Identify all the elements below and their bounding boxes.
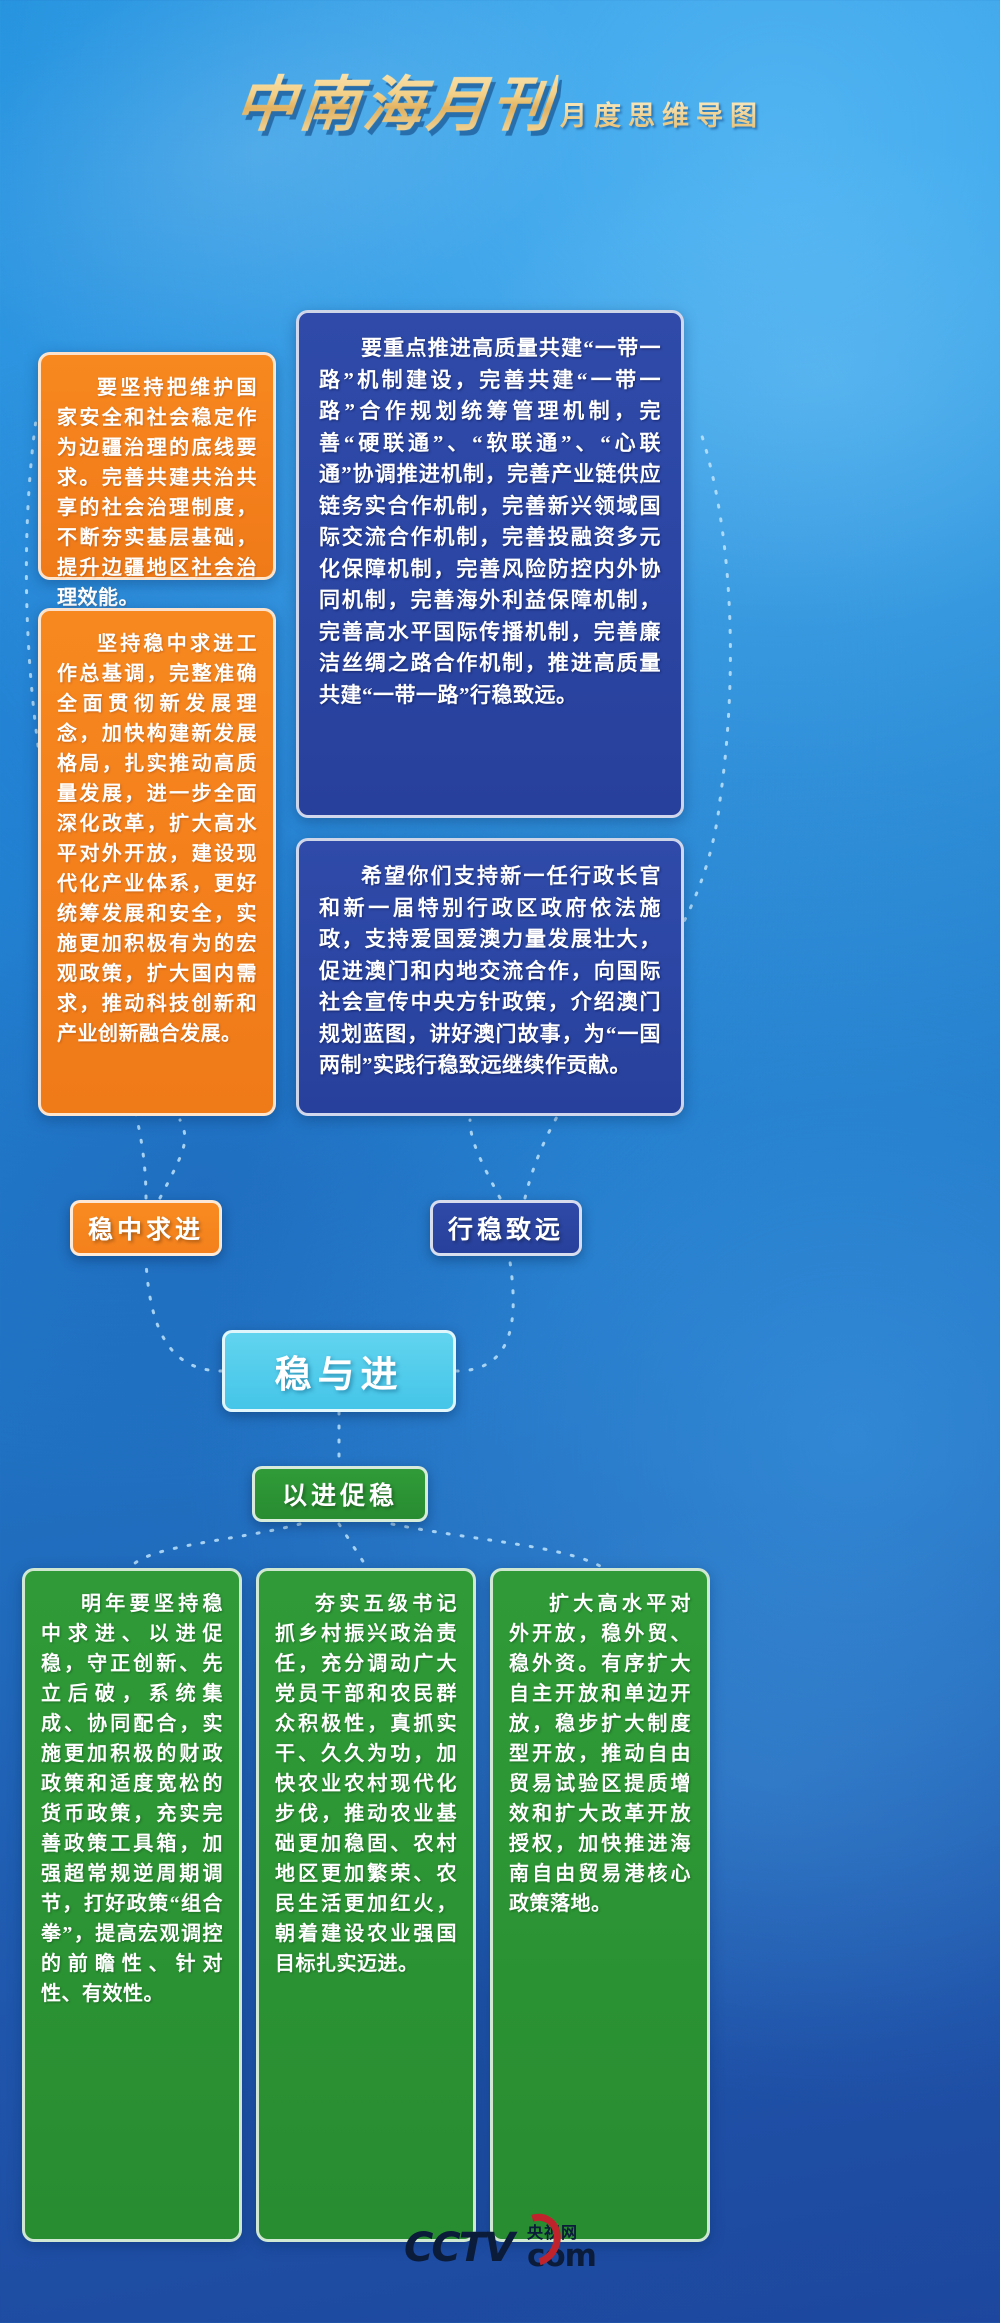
card-macao[interactable]: 希望你们支持新一任行政长官和新一届特别行政区政府依法施政，支持爱国爱澳力量发展壮… <box>296 838 684 1116</box>
cctv-logo: CCTV 央视网 com <box>404 2225 596 2271</box>
cctv-logo-text: CCTV <box>404 2225 513 2271</box>
page-header: 中南海月刊 月度思维导图 <box>0 0 1000 143</box>
card-text: 扩大高水平对外开放，稳外贸、稳外资。有序扩大自主开放和单边开放，稳步扩大制度型开… <box>509 1589 691 1919</box>
card-text: 坚持稳中求进工作总基调，完整准确全面贯彻新发展理念，加快构建新发展格局，扎实推动… <box>57 629 257 1049</box>
page-title: 中南海月刊 <box>231 56 560 143</box>
node-center-theme[interactable]: 稳与进 <box>222 1330 456 1412</box>
card-steady-progress[interactable]: 坚持稳中求进工作总基调，完整准确全面贯彻新发展理念，加快构建新发展格局，扎实推动… <box>38 608 276 1116</box>
card-text: 希望你们支持新一任行政长官和新一届特别行政区政府依法施政，支持爱国爱澳力量发展壮… <box>319 861 661 1082</box>
card-belt-and-road[interactable]: 要重点推进高质量共建“一带一路”机制建设，完善共建“一带一路”合作规划统筹管理机… <box>296 310 684 818</box>
card-rural-revitalization[interactable]: 夯实五级书记抓乡村振兴政治责任，充分调动广大党员干部和农民群众积极性，真抓实干、… <box>256 1568 476 2242</box>
node-label: 以进促稳 <box>282 1476 398 1512</box>
card-border-governance[interactable]: 要坚持把维护国家安全和社会稳定作为边疆治理的底线要求。完善共建共治共享的社会治理… <box>38 352 276 580</box>
card-opening-up[interactable]: 扩大高水平对外开放，稳外贸、稳外资。有序扩大自主开放和单边开放，稳步扩大制度型开… <box>490 1568 710 2242</box>
node-steady-far[interactable]: 行稳致远 <box>430 1200 582 1256</box>
card-text: 要重点推进高质量共建“一带一路”机制建设，完善共建“一带一路”合作规划统筹管理机… <box>319 333 661 711</box>
card-text: 要坚持把维护国家安全和社会稳定作为边疆治理的底线要求。完善共建共治共享的社会治理… <box>57 373 257 613</box>
card-text: 明年要坚持稳中求进、以进促稳，守正创新、先立后破，系统集成、协同配合，实施更加积… <box>41 1589 223 2009</box>
page-footer: CCTV 央视网 com <box>0 2225 1000 2271</box>
node-progress-promotes-stability[interactable]: 以进促稳 <box>252 1466 428 1522</box>
node-steady-in-progress[interactable]: 稳中求进 <box>70 1200 222 1256</box>
node-label: 行稳致远 <box>448 1210 564 1246</box>
card-next-year-policy[interactable]: 明年要坚持稳中求进、以进促稳，守正创新、先立后破，系统集成、协同配合，实施更加积… <box>22 1568 242 2242</box>
node-label: 稳中求进 <box>88 1210 204 1246</box>
card-text: 夯实五级书记抓乡村振兴政治责任，充分调动广大党员干部和农民群众积极性，真抓实干、… <box>275 1589 457 1979</box>
page-subtitle: 月度思维导图 <box>560 94 764 133</box>
node-label: 稳与进 <box>275 1344 404 1398</box>
